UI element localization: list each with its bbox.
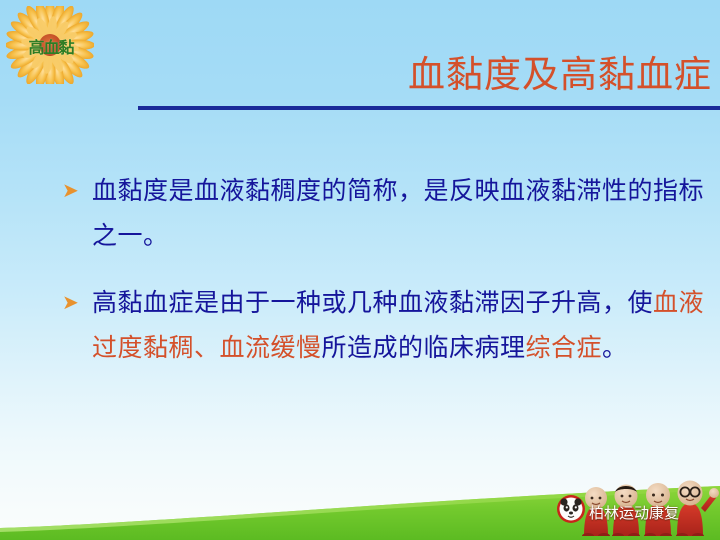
sunflower-logo: 高血黏 (6, 6, 94, 84)
bullet-arrow-icon: ➤ (62, 168, 79, 213)
page-title: 血黏度及高黏血症 (408, 52, 712, 98)
watermark: 柏林运动康复 (556, 474, 720, 536)
list-item: ➤ 血黏度是血液黏稠度的简称，是反映血液黏滞性的指标之一。 (62, 168, 710, 258)
text-run-highlight: 综合症 (526, 333, 603, 362)
text-run: 高黏血症是由于一种或几种血液黏滞因子升高，使 (92, 288, 653, 317)
bullet-arrow-icon: ➤ (62, 280, 79, 325)
title-underline-rule (138, 106, 720, 110)
list-item: ➤ 高黏血症是由于一种或几种血液黏滞因子升高，使血液过度黏稠、血流缓慢所造成的临… (62, 280, 710, 370)
watermark-label: 柏林运动康复 (589, 504, 679, 522)
text-run: 所造成的临床病理 (322, 333, 526, 362)
text-run: 。 (602, 333, 628, 362)
panda-badge-icon (556, 494, 586, 524)
logo-label: 高血黏 (6, 6, 94, 84)
slide-canvas: 高血黏 血黏度及高黏血症 ➤ 血黏度是血液黏稠度的简称，是反映血液黏滞性的指标之… (0, 0, 720, 540)
text-run: 血黏度是血液黏稠度的简称，是反映血液黏滞性的指标之一。 (92, 176, 704, 250)
bullet-text: 高黏血症是由于一种或几种血液黏滞因子升高，使血液过度黏稠、血流缓慢所造成的临床病… (92, 288, 704, 362)
bullet-text: 血黏度是血液黏稠度的简称，是反映血液黏滞性的指标之一。 (92, 176, 704, 250)
bullet-list: ➤ 血黏度是血液黏稠度的简称，是反映血液黏滞性的指标之一。 ➤ 高黏血症是由于一… (62, 168, 710, 392)
